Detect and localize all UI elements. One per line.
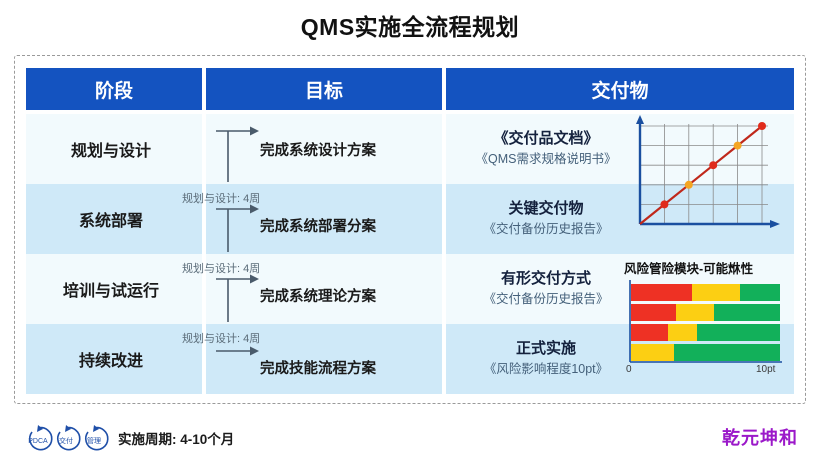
deliverable-sub: 《交付备份历史报告》	[483, 221, 608, 238]
risk-bar-segment	[668, 324, 696, 341]
table-header-row: 阶段 目标 交付物	[26, 68, 794, 110]
risk-bar	[631, 284, 780, 301]
risk-axis-tick-min: 0	[626, 364, 632, 375]
flow-arrow	[206, 114, 266, 184]
deliverable-main: 有形交付方式	[501, 270, 591, 289]
deliverable-sub: 《风险影响程度10pt》	[484, 361, 608, 378]
stage-label: 系统部署	[26, 184, 202, 254]
deliverable-block: 正式实施 《风险影响程度10pt》	[446, 324, 646, 394]
header-cell-deliverable: 交付物	[446, 68, 794, 110]
goal-label: 完成技能流程方案	[260, 332, 442, 402]
deliverable-block: 有形交付方式 《交付备份历史报告》	[446, 254, 646, 324]
header-cell-stage: 阶段	[26, 68, 202, 110]
risk-bar-segment	[692, 284, 740, 301]
deliverable-main: 正式实施	[516, 340, 576, 359]
goal-label: 完成系统理论方案	[260, 260, 442, 330]
pdca-icon-label: 管理	[87, 436, 101, 445]
row-cell-goal: 规划与设计: 4周 完成系统部署分案	[206, 184, 442, 254]
deliverable-block: 《交付品文档》 《QMS需求规格说明书》	[446, 114, 646, 184]
risk-bar-segment	[674, 344, 780, 361]
risk-bar-segment	[631, 284, 692, 301]
goal-label: 完成系统设计方案	[260, 114, 442, 184]
risk-axis-tick-max: 10pt	[756, 364, 775, 375]
stage-label: 持续改进	[26, 324, 202, 394]
row-cell-goal: 规划与设计: 4周 完成技能流程方案	[206, 324, 442, 394]
risk-bar-segment	[740, 284, 780, 301]
row-cell-goal: 完成系统设计方案	[206, 114, 442, 184]
header-label-goal: 目标	[305, 76, 343, 103]
row-cell-stage: 系统部署	[26, 184, 202, 254]
header-cell-goal: 目标	[206, 68, 442, 110]
header-label-stage: 阶段	[95, 76, 133, 103]
risk-chart-title: 风险管险模块-可能烌性	[620, 258, 792, 277]
stage-label: 规划与设计	[26, 114, 202, 184]
brand-logo: 乾元坤和	[722, 424, 798, 450]
line-chart	[622, 112, 788, 242]
risk-bar-segment	[631, 344, 674, 361]
risk-bar	[631, 344, 780, 361]
implementation-cycle-label: 实施周期: 4-10个月	[118, 428, 234, 448]
risk-bar-segment	[631, 304, 676, 321]
pdca-icon-label: 交付	[59, 436, 73, 445]
pdca-cycle-icons: PDCA 交付 管理	[24, 424, 116, 454]
stage-label: 培训与试运行	[26, 254, 202, 324]
goal-label: 完成系统部署分案	[260, 190, 442, 260]
risk-bar-segment	[697, 324, 780, 341]
duration-label: 规划与设计: 4周	[182, 330, 260, 346]
risk-bar-segment	[631, 324, 668, 341]
risk-bar-segment	[714, 304, 780, 321]
deliverable-main: 《交付品文档》	[493, 130, 598, 149]
deliverable-block: 关键交付物 《交付备份历史报告》	[446, 184, 646, 254]
row-cell-stage: 培训与试运行	[26, 254, 202, 324]
slide-root: QMS实施全流程规划 阶段 目标 交付物 规划与设计	[0, 0, 820, 461]
risk-bar	[631, 304, 780, 321]
duration-label: 规划与设计: 4周	[182, 190, 260, 206]
deliverable-sub: 《交付备份历史报告》	[483, 291, 608, 308]
row-cell-goal: 规划与设计: 4周 完成系统理论方案	[206, 254, 442, 324]
row-cell-stage: 规划与设计	[26, 114, 202, 184]
risk-bar	[631, 324, 780, 341]
pdca-icon-label: PDCA	[28, 438, 48, 445]
row-cell-stage: 持续改进	[26, 324, 202, 394]
deliverable-sub: 《QMS需求规格说明书》	[476, 151, 617, 168]
deliverable-main: 关键交付物	[508, 200, 583, 219]
duration-label: 规划与设计: 4周	[182, 260, 260, 276]
risk-bar-chart: 风险管险模块-可能烌性 0 10pt	[620, 256, 792, 388]
page-title: QMS实施全流程规划	[0, 8, 820, 42]
risk-bar-segment	[676, 304, 715, 321]
header-label-deliverable: 交付物	[591, 76, 648, 103]
